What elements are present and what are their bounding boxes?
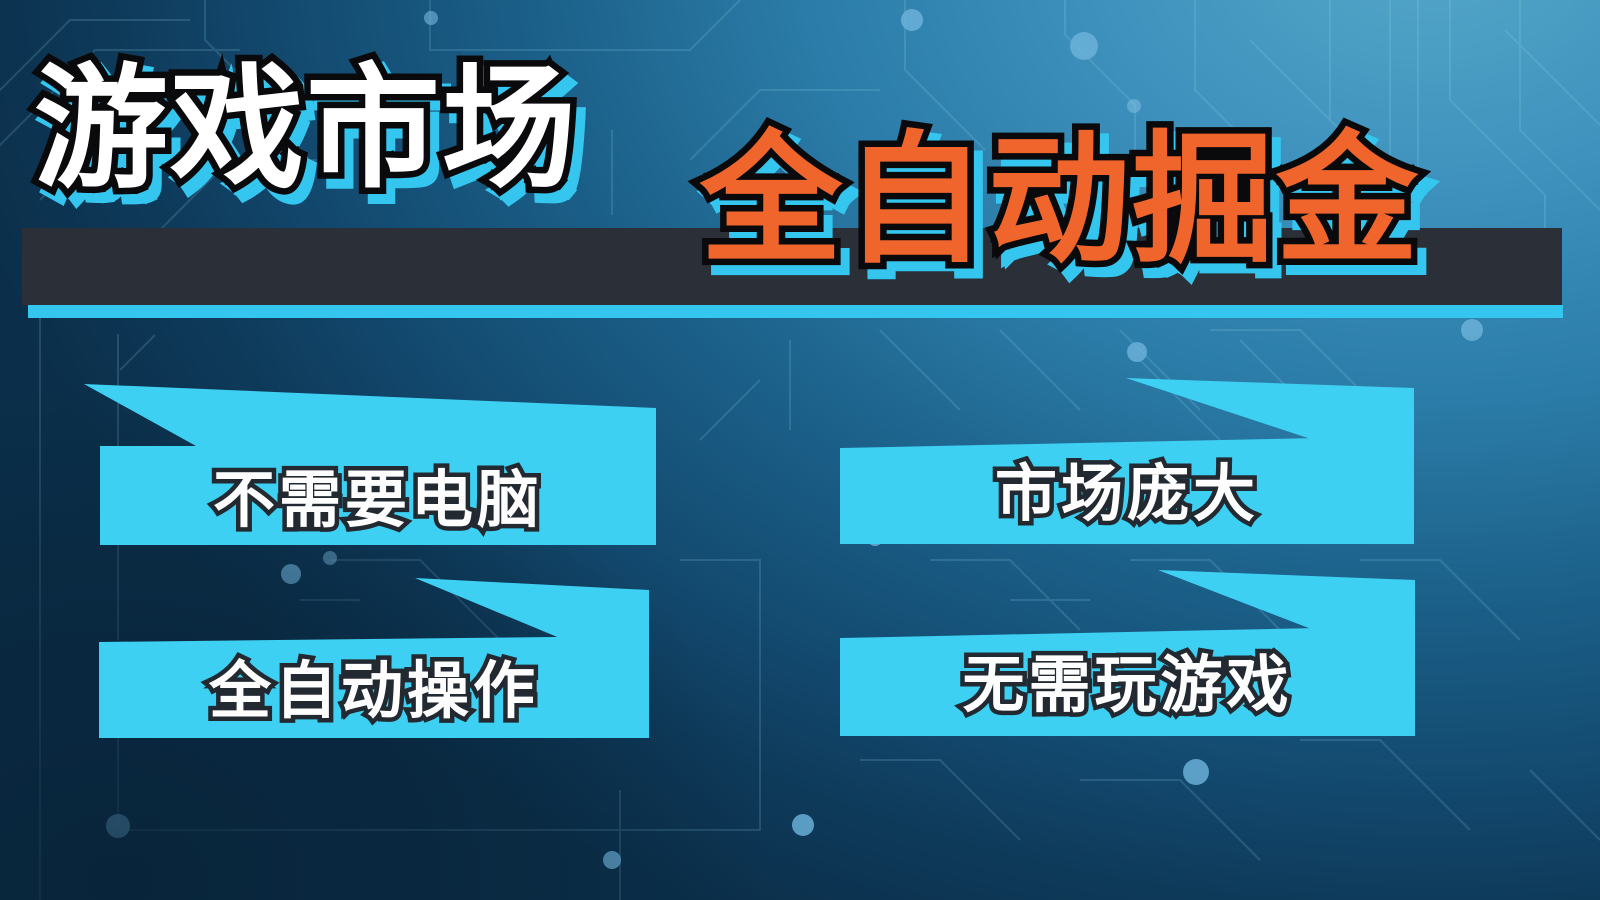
title-accent-text: 全自动掘金 — [700, 121, 1420, 280]
feature-box-1-label: 不需要电脑 — [100, 446, 656, 545]
feature-box-2-label: 市场庞大 — [840, 436, 1414, 544]
title-main-text: 游戏市场 — [34, 55, 578, 204]
page-title-accent: 全自动掘金 全自动掘金 — [700, 130, 1420, 272]
headline-cyan-underline — [28, 305, 1563, 318]
feature-box-4: 无需玩游戏 — [840, 626, 1415, 736]
page-title-main: 游戏市场 游戏市场 — [34, 63, 578, 197]
poster-canvas: 游戏市场 游戏市场 全自动掘金 全自动掘金 不需要电脑 市场庞大 全自动操作 — [0, 0, 1600, 900]
feature-box-3-label: 全自动操作 — [99, 636, 649, 738]
feature-box-4-label: 无需玩游戏 — [840, 626, 1415, 736]
feature-box-2: 市场庞大 — [840, 436, 1414, 544]
feature-box-1: 不需要电脑 — [100, 446, 656, 545]
feature-box-3: 全自动操作 — [99, 636, 649, 738]
